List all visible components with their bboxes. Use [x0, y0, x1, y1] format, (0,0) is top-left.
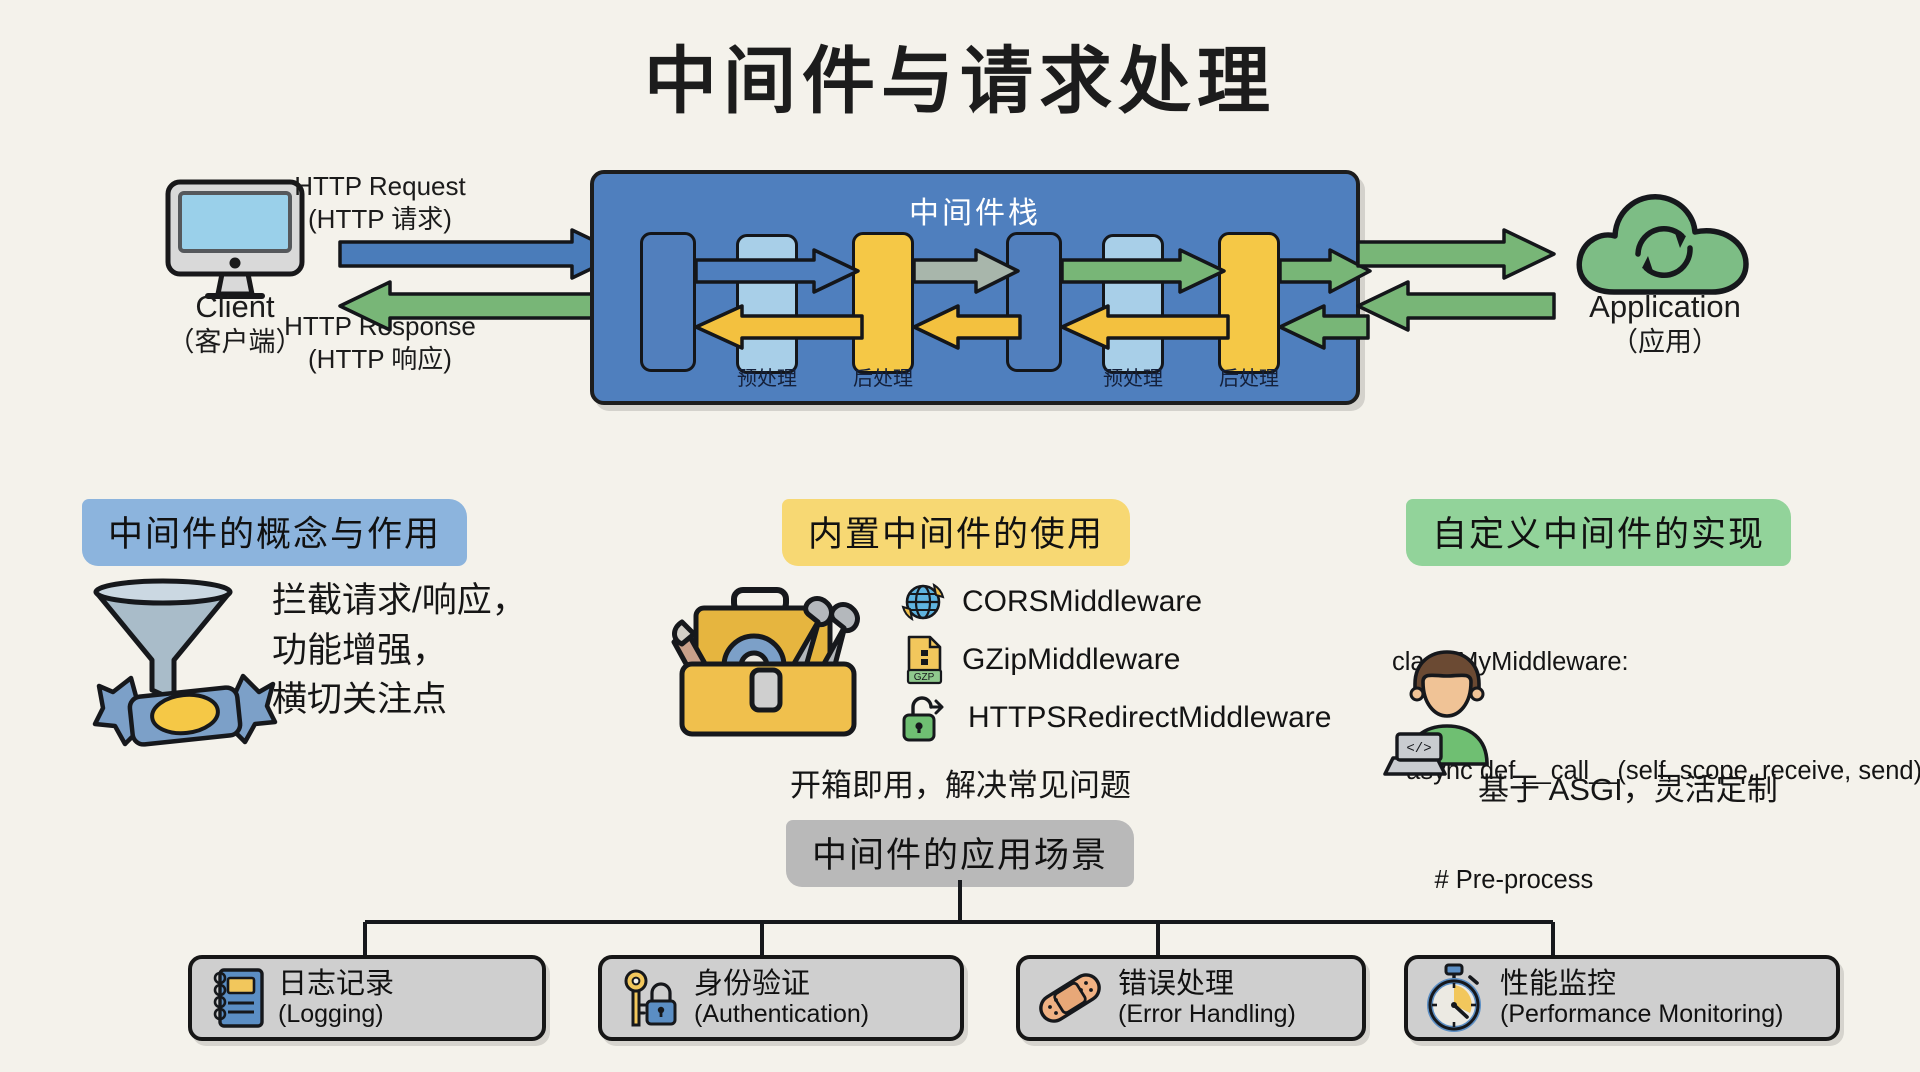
inner-return-arrow-1	[694, 306, 866, 352]
stopwatch-icon	[1422, 963, 1488, 1033]
request-arrow-in	[340, 230, 630, 282]
custom-caption: 基于 ASGI，灵活定制	[1478, 764, 1778, 809]
section-header-builtin: 内置中间件的使用	[782, 499, 1130, 566]
builtin-middleware-list: CORSMiddleware GZP GZipMiddleware HTTPSR…	[900, 578, 1331, 752]
inner-return-arrow-2	[912, 306, 1024, 352]
inner-return-arrow-3	[1060, 306, 1232, 352]
section-header-custom: 自定义中间件的实现	[1406, 499, 1791, 566]
section-header-concept: 中间件的概念与作用	[82, 499, 467, 566]
middleware-label-https: HTTPSRedirectMiddleware	[968, 701, 1331, 735]
stage-caption-2: 预处理	[1088, 362, 1178, 391]
middleware-item-https: HTTPSRedirectMiddleware	[900, 694, 1331, 742]
toolbox-icon	[668, 578, 868, 748]
http-request-caption: HTTP Request (HTTP 请求)	[230, 170, 530, 235]
middleware-stack-title: 中间件栈	[594, 188, 1356, 232]
response-arrow-out	[340, 282, 630, 334]
builtin-caption: 开箱即用，解决常见问题	[790, 760, 1131, 805]
infographic-canvas: 中间件与请求处理 Client （客户端） HTTP Request (HTTP…	[0, 0, 1920, 1072]
svg-text:GZP: GZP	[914, 672, 935, 683]
candy-icon	[95, 672, 275, 758]
unlocked-padlock-icon	[900, 693, 952, 743]
middleware-label-cors: CORSMiddleware	[962, 585, 1202, 619]
scenario-box-performance[interactable]: 性能监控 (Performance Monitoring)	[1404, 955, 1840, 1041]
inner-forward-arrow-1	[696, 250, 866, 296]
stage-caption-1: 后处理	[838, 362, 928, 391]
scenario-text-logging: 日志记录 (Logging)	[278, 968, 394, 1028]
middleware-block-1	[640, 232, 696, 372]
scenario-text-error-handling: 错误处理 (Error Handling)	[1118, 968, 1296, 1028]
scenario-text-performance: 性能监控 (Performance Monitoring)	[1500, 968, 1783, 1028]
response-arrow-in	[1358, 282, 1558, 334]
inner-forward-arrow-2	[914, 250, 1024, 296]
application-name: Application	[1589, 289, 1741, 324]
svg-text:</>: </>	[1406, 741, 1431, 757]
scenario-text-authentication: 身份验证 (Authentication)	[694, 968, 869, 1028]
request-flow-diagram: Client （客户端） HTTP Request (HTTP 请求) HTTP…	[0, 160, 1920, 450]
concept-line-1: 功能增强，	[272, 626, 527, 676]
application-sub: （应用）	[1535, 326, 1795, 359]
section-header-scenarios: 中间件的应用场景	[786, 820, 1134, 887]
bandage-icon	[1034, 967, 1106, 1029]
globe-icon	[900, 579, 946, 625]
key-lock-icon	[616, 965, 682, 1031]
request-arrow-out	[1358, 230, 1558, 282]
scenario-box-logging[interactable]: 日志记录 (Logging)	[188, 955, 546, 1041]
notebook-icon	[206, 965, 266, 1031]
scenario-box-authentication[interactable]: 身份验证 (Authentication)	[598, 955, 964, 1041]
gzip-file-icon: GZP	[900, 634, 946, 686]
concept-body: 拦截请求/响应， 功能增强， 横切关注点	[272, 576, 527, 725]
application-label: Application （应用）	[1535, 288, 1795, 359]
stage-caption-3: 后处理	[1204, 362, 1294, 391]
stage-caption-0: 预处理	[722, 362, 812, 391]
concept-line-2: 横切关注点	[272, 675, 527, 725]
middleware-stack-panel: 中间件栈	[590, 170, 1360, 405]
scenario-box-error-handling[interactable]: 错误处理 (Error Handling)	[1016, 955, 1366, 1041]
middleware-item-cors: CORSMiddleware	[900, 578, 1331, 626]
middleware-label-gzip: GZipMiddleware	[962, 643, 1180, 677]
concept-line-0: 拦截请求/响应，	[272, 576, 527, 626]
page-title: 中间件与请求处理	[0, 22, 1920, 128]
inner-forward-arrow-3	[1062, 250, 1232, 296]
middleware-item-gzip: GZP GZipMiddleware	[900, 636, 1331, 684]
